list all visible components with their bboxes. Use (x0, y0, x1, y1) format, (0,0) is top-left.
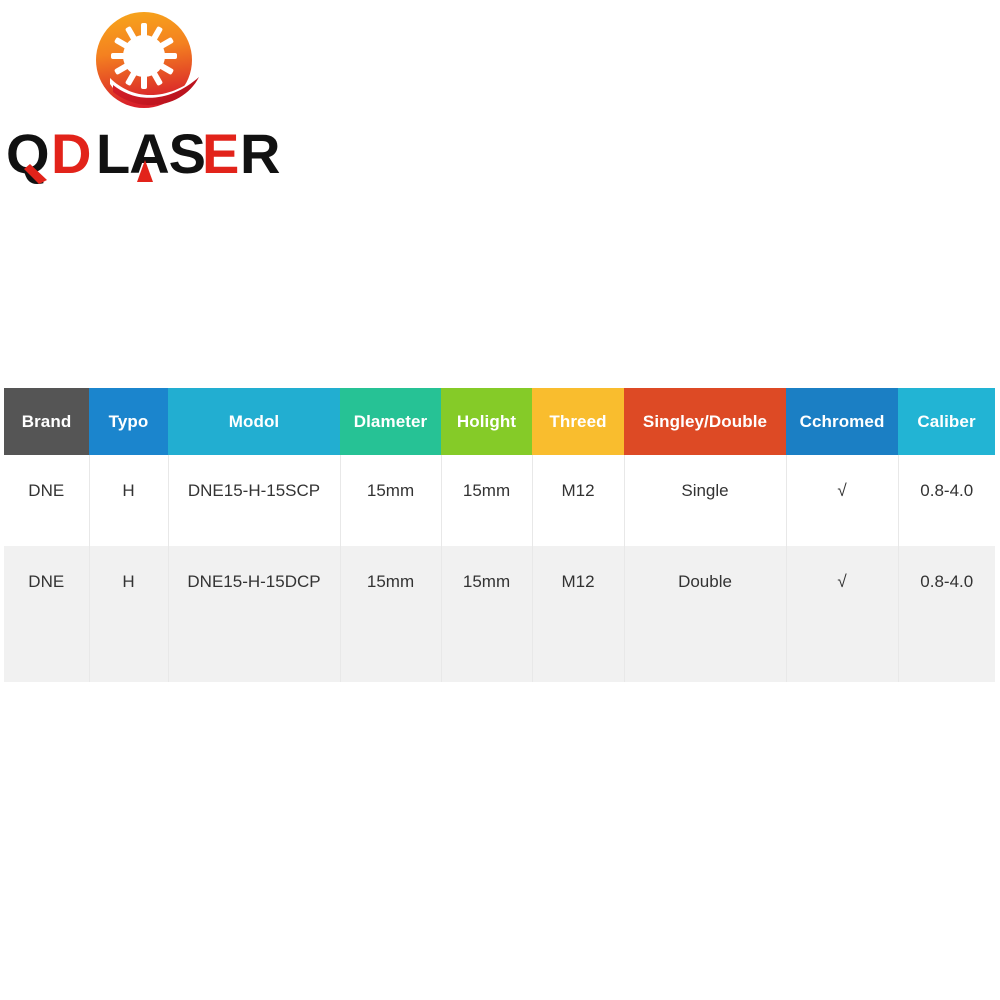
cell-threed: M12 (532, 455, 624, 546)
cell-holight: 15mm (441, 455, 532, 546)
cell-typo: H (89, 546, 168, 682)
wordmark-letter-d: D (51, 126, 90, 184)
column-header-singley-double: Singley/Double (624, 388, 786, 455)
qdlaser-wordmark: Q D LAS E R (6, 126, 306, 184)
cell-dlameter: 15mm (340, 455, 441, 546)
cell-caliber: 0.8-4.0 (898, 455, 995, 546)
wordmark-letter-e: E (202, 126, 238, 184)
cell-caliber: 0.8-4.0 (898, 546, 995, 682)
table-row: DNE H DNE15-H-15SCP 15mm 15mm M12 Single… (4, 455, 995, 546)
brand-logo-block: Q D LAS E R (0, 0, 330, 200)
cell-cchromed-check-icon: √ (786, 455, 898, 546)
column-header-typo: Typo (89, 388, 168, 455)
cell-modol: DNE15-H-15SCP (168, 455, 340, 546)
cell-threed: M12 (532, 546, 624, 682)
column-header-cchromed: Cchromed (786, 388, 898, 455)
product-spec-table: Brand Typo Modol Dlameter Holight Threed… (4, 388, 995, 682)
cell-typo: H (89, 455, 168, 546)
cell-dlameter: 15mm (340, 546, 441, 682)
cell-cchromed-check-icon: √ (786, 546, 898, 682)
column-header-brand: Brand (4, 388, 89, 455)
cell-brand: DNE (4, 455, 89, 546)
column-header-threed: Threed (532, 388, 624, 455)
column-header-holight: Holight (441, 388, 532, 455)
wordmark-letter-r: R (240, 126, 280, 184)
cell-modol: DNE15-H-15DCP (168, 546, 340, 682)
column-header-caliber: Caliber (898, 388, 995, 455)
sun-circle-logo-icon (86, 6, 208, 116)
cell-singley-double: Double (624, 546, 786, 682)
cell-holight: 15mm (441, 546, 532, 682)
column-header-dlameter: Dlameter (340, 388, 441, 455)
column-header-modol: Modol (168, 388, 340, 455)
table-row: DNE H DNE15-H-15DCP 15mm 15mm M12 Double… (4, 546, 995, 682)
cell-brand: DNE (4, 546, 89, 682)
wordmark-letter-q: Q (6, 126, 49, 184)
table-header-row: Brand Typo Modol Dlameter Holight Threed… (4, 388, 995, 455)
cell-singley-double: Single (624, 455, 786, 546)
